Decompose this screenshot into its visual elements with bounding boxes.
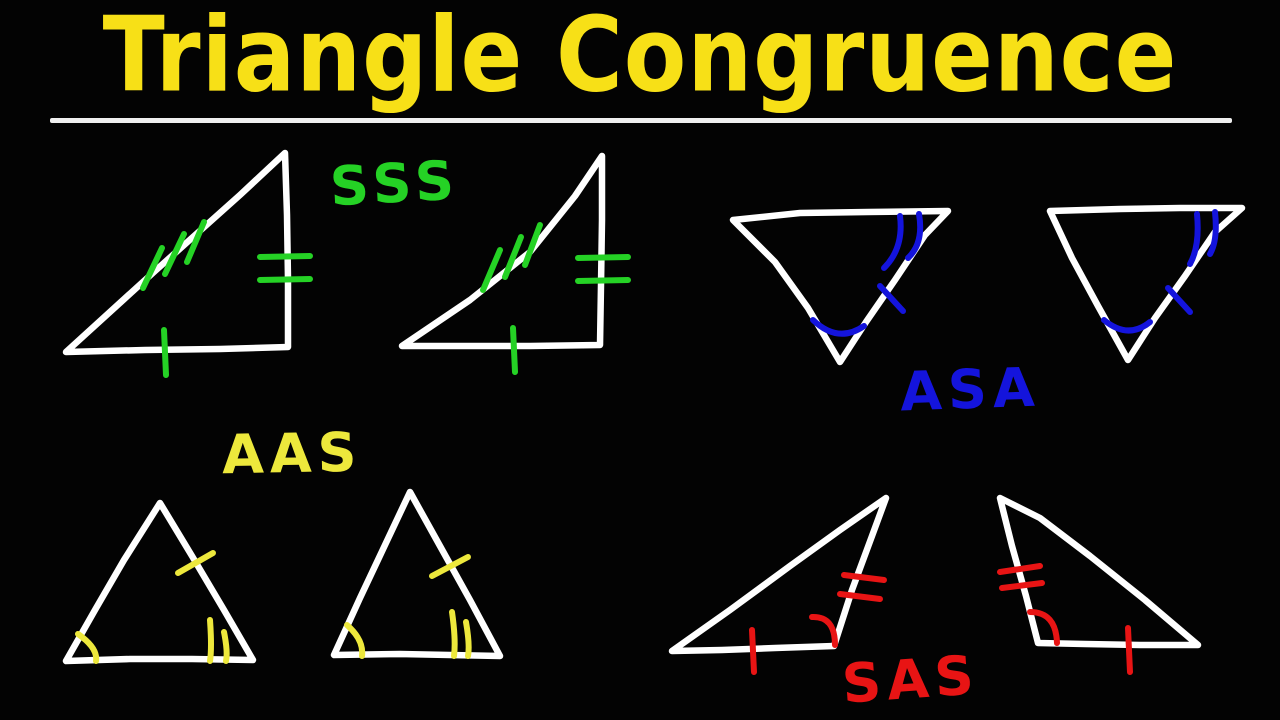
aas-triangle-1 — [66, 503, 253, 661]
base-tick-1 — [752, 630, 754, 672]
vertical-leg-tick-2 — [260, 279, 310, 280]
base-tick-1 — [513, 328, 515, 372]
aas-triangle-2 — [334, 492, 500, 656]
label-sas: SAS — [840, 643, 982, 715]
asa-triangle-1-outline — [733, 211, 948, 362]
aas-triangle-2-outline — [334, 492, 500, 656]
top-right-angle-arc-outer — [884, 216, 901, 268]
vertical-leg-tick-2 — [578, 280, 628, 281]
sas-triangle-1-angle-arc — [812, 617, 835, 645]
vertical-leg-tick-1 — [578, 257, 628, 258]
asa-triangle-2 — [1050, 208, 1242, 360]
aas-triangle-2-angle-arcs — [347, 612, 469, 656]
right-side-tick-1 — [844, 575, 884, 580]
bottom-right-angle-arc-inner — [224, 632, 227, 661]
aas-triangle-1-angle-arcs — [78, 620, 227, 661]
top-right-angle-arc-inner — [908, 214, 920, 258]
triangle-diagrams — [0, 0, 1280, 720]
sas-triangle-2-outline — [1000, 498, 1198, 645]
bottom-right-angle-arc-inner — [466, 622, 469, 656]
asa-triangle-1 — [733, 211, 948, 362]
label-asa: ASA — [899, 356, 1042, 424]
sas-triangle-2 — [1000, 498, 1198, 672]
sss-triangle-1 — [66, 153, 310, 375]
bottom-right-angle-arc-outer — [210, 620, 211, 661]
bottom-left-angle-arc — [78, 634, 96, 661]
base-tick-1 — [164, 330, 166, 375]
whiteboard-canvas: Triangle Congruence — [0, 0, 1280, 720]
hypotenuse-tick-2 — [165, 234, 184, 274]
sss-triangle-2-side-ticks — [483, 225, 628, 372]
bottom-right-angle-arc-outer — [452, 612, 455, 656]
sas-triangle-1 — [672, 498, 886, 672]
label-aas: AAS — [221, 421, 363, 486]
top-right-angle-arc-outer — [1190, 214, 1198, 264]
base-tick-1 — [1128, 628, 1130, 672]
vertical-leg-tick-1 — [260, 256, 310, 257]
left-side-tick-1 — [1000, 566, 1040, 572]
bottom-left-angle-arc — [347, 625, 362, 656]
label-sss: SSS — [328, 149, 461, 219]
left-side-tick-2 — [1002, 583, 1042, 588]
